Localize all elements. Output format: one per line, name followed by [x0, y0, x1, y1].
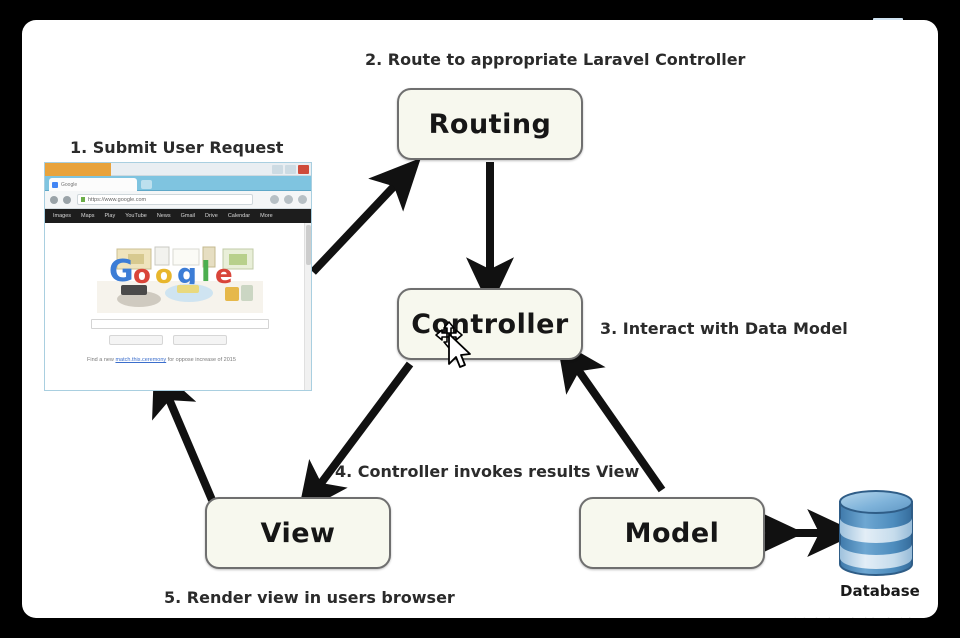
- google-promo-text: Find a new match.this.ceremony for oppos…: [87, 357, 236, 363]
- scrollbar-thumb[interactable]: [306, 225, 311, 265]
- browser-page-content: G o o g l e: [45, 223, 311, 391]
- browser-window-thumbnail[interactable]: Google https://www.google.com: [44, 162, 312, 391]
- caption-step-3: 3. Interact with Data Model: [600, 319, 848, 338]
- nav-link-play[interactable]: Play: [105, 213, 116, 219]
- close-icon[interactable]: [298, 165, 309, 174]
- back-icon[interactable]: [50, 196, 58, 204]
- bookmark-star-icon[interactable]: [270, 195, 279, 204]
- node-model[interactable]: Model: [579, 497, 765, 569]
- google-search-input[interactable]: [91, 319, 269, 329]
- node-controller-label: Controller: [411, 309, 569, 340]
- svg-text:o: o: [155, 260, 173, 290]
- browser-tabstrip[interactable]: Google: [45, 176, 311, 191]
- node-model-label: Model: [625, 518, 720, 549]
- toolbar-actions[interactable]: [270, 195, 307, 204]
- database-label: Database: [840, 582, 920, 600]
- caption-step-5: 5. Render view in users browser: [164, 588, 455, 607]
- promo-suffix: for oppose increase of 2015: [166, 357, 236, 363]
- window-controls[interactable]: [272, 165, 309, 174]
- node-view[interactable]: View: [205, 497, 391, 569]
- nav-link-calendar[interactable]: Calendar: [228, 213, 250, 219]
- extension-icon[interactable]: [284, 195, 293, 204]
- arrow-request-to-routing: [313, 180, 400, 272]
- nav-link-gmail[interactable]: Gmail: [181, 213, 195, 219]
- node-view-label: View: [261, 518, 336, 549]
- address-bar[interactable]: https://www.google.com: [77, 194, 253, 205]
- slide-canvas: Routing Controller View Model 1. Submit …: [22, 20, 938, 618]
- promo-link[interactable]: match.this.ceremony: [115, 357, 166, 363]
- browser-titlebar: [45, 163, 311, 176]
- svg-text:e: e: [215, 260, 233, 290]
- minimize-icon[interactable]: [272, 165, 283, 174]
- mvc-diagram: Routing Controller View Model 1. Submit …: [22, 20, 938, 618]
- caption-step-4: 4. Controller invokes results View: [335, 462, 639, 481]
- google-search-buttons[interactable]: [109, 335, 227, 345]
- menu-icon[interactable]: [298, 195, 307, 204]
- svg-text:G: G: [109, 254, 134, 289]
- google-search-button[interactable]: [109, 335, 163, 345]
- address-bar-url: https://www.google.com: [88, 197, 146, 203]
- maximize-icon[interactable]: [285, 165, 296, 174]
- browser-tab-title: Google: [61, 182, 77, 188]
- browser-toolbar[interactable]: https://www.google.com: [45, 191, 311, 209]
- nav-link-maps[interactable]: Maps: [81, 213, 94, 219]
- watermark-text: @稀土掘金技术社区: [772, 612, 934, 618]
- browser-scrollbar[interactable]: [304, 223, 311, 391]
- node-routing[interactable]: Routing: [397, 88, 583, 160]
- google-doodle-image[interactable]: G o o g l e: [97, 241, 263, 313]
- caption-step-1: 1. Submit User Request: [70, 138, 283, 157]
- promo-prefix: Find a new: [87, 357, 115, 363]
- nav-link-youtube[interactable]: YouTube: [125, 213, 147, 219]
- nav-link-more[interactable]: More: [260, 213, 273, 219]
- favicon-icon: [52, 182, 58, 188]
- browser-tab[interactable]: Google: [49, 178, 137, 191]
- node-controller[interactable]: Controller: [397, 288, 583, 360]
- new-tab-button[interactable]: [141, 180, 152, 189]
- caption-step-2: 2. Route to appropriate Laravel Controll…: [365, 50, 745, 69]
- feeling-lucky-button[interactable]: [173, 335, 227, 345]
- nav-link-drive[interactable]: Drive: [205, 213, 218, 219]
- lock-icon: [81, 197, 85, 202]
- nav-link-news[interactable]: News: [157, 213, 171, 219]
- node-routing-label: Routing: [429, 109, 552, 140]
- arrow-view-to-browser: [166, 392, 212, 500]
- browser-titlebar-accent: [45, 163, 111, 176]
- svg-text:l: l: [201, 255, 211, 288]
- forward-icon[interactable]: [63, 196, 71, 204]
- database-cylinder-icon: [834, 488, 918, 580]
- screen-root: Routing Controller View Model 1. Submit …: [0, 0, 960, 638]
- nav-link-images[interactable]: Images: [53, 213, 71, 219]
- google-nav-bar[interactable]: Images Maps Play YouTube News Gmail Driv…: [45, 209, 311, 223]
